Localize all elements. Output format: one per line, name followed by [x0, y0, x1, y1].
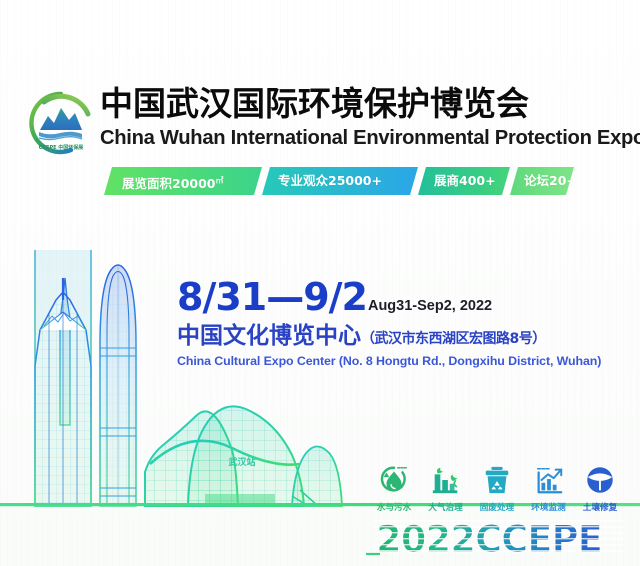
water-drop-recycle-icon: [372, 462, 416, 498]
recycle-bin-icon: [475, 462, 519, 498]
factory-smokestack-icon: [424, 462, 468, 498]
event-info-block: 8/31—9/2Aug31-Sep2, 2022 中国文化博览中心（武汉市东西湖…: [177, 278, 627, 368]
theme-air: 大气治理: [424, 462, 468, 513]
wordmark-text-stripe-overlay: 2022CCEPE: [376, 518, 602, 561]
event-venue-cn: 中国文化博览中心: [177, 323, 361, 349]
theme-icon-row: 水与污水 大气治理: [372, 459, 622, 513]
theme-label-solid-waste: 固废处理: [475, 501, 519, 513]
poster-canvas: 武汉站: [0, 0, 640, 566]
stat-item-exhibition-area: 展览面积20000㎡: [122, 167, 224, 195]
ccepe-mountain-logo: CCEPE 中国环保展: [24, 86, 98, 160]
logo-wordmark: CCEPE 中国环保展: [39, 144, 84, 151]
poster-header: CCEPE 中国环保展 中国武汉国际环境保护博览会 China Wuhan In…: [0, 84, 640, 166]
event-venue-cn-line: 中国文化博览中心（武汉市东西湖区宏图路8号）: [177, 325, 627, 348]
tower-greenland: [35, 250, 91, 506]
soil-sprout-shield-icon: [578, 462, 622, 498]
event-date-line: 8/31—9/2Aug31-Sep2, 2022: [177, 278, 627, 316]
theme-label-monitoring: 环境监测: [527, 501, 571, 513]
page-title-cn: 中国武汉国际环境保护博览会: [100, 84, 630, 124]
theme-monitoring: 环境监测: [527, 462, 571, 513]
event-venue-en: China Cultural Expo Center (No. 8 Hongtu…: [177, 354, 627, 368]
tower-minsheng: [100, 265, 136, 506]
wuhan-railway-station: 武汉站: [145, 406, 342, 506]
theme-label-air: 大气治理: [424, 501, 468, 513]
unit-m2: ㎡: [216, 176, 224, 185]
stat-item-visitors: 专业观众25000+: [278, 167, 382, 195]
stat-item-exhibitors: 展商400+: [434, 167, 496, 195]
theme-water: 水与污水: [372, 462, 416, 513]
title-block: 中国武汉国际环境保护博览会 China Wuhan International …: [100, 84, 630, 151]
station-label: 武汉站: [228, 456, 255, 468]
event-date-cn: 8/31—9/2: [177, 275, 367, 319]
theme-soil: 土壤修复: [578, 462, 622, 513]
ccepe-year-wordmark: 2022CCEPE 2022CCEPE: [366, 518, 628, 562]
theme-label-water: 水与污水: [372, 501, 416, 513]
event-venue-address-cn: （武汉市东西湖区宏图路8号）: [361, 331, 546, 347]
bar-chart-monitor-icon: [527, 462, 571, 498]
page-title-en: China Wuhan International Environmental …: [100, 126, 630, 151]
theme-label-soil: 土壤修复: [578, 501, 622, 513]
stat-item-forums: 论坛20+: [524, 167, 577, 195]
stats-ribbon: 展览面积20000㎡ 专业观众25000+ 展商400+ 论坛20+: [104, 167, 574, 195]
theme-solid-waste: 固废处理: [475, 462, 519, 513]
event-date-en: Aug31-Sep2, 2022: [368, 298, 492, 314]
